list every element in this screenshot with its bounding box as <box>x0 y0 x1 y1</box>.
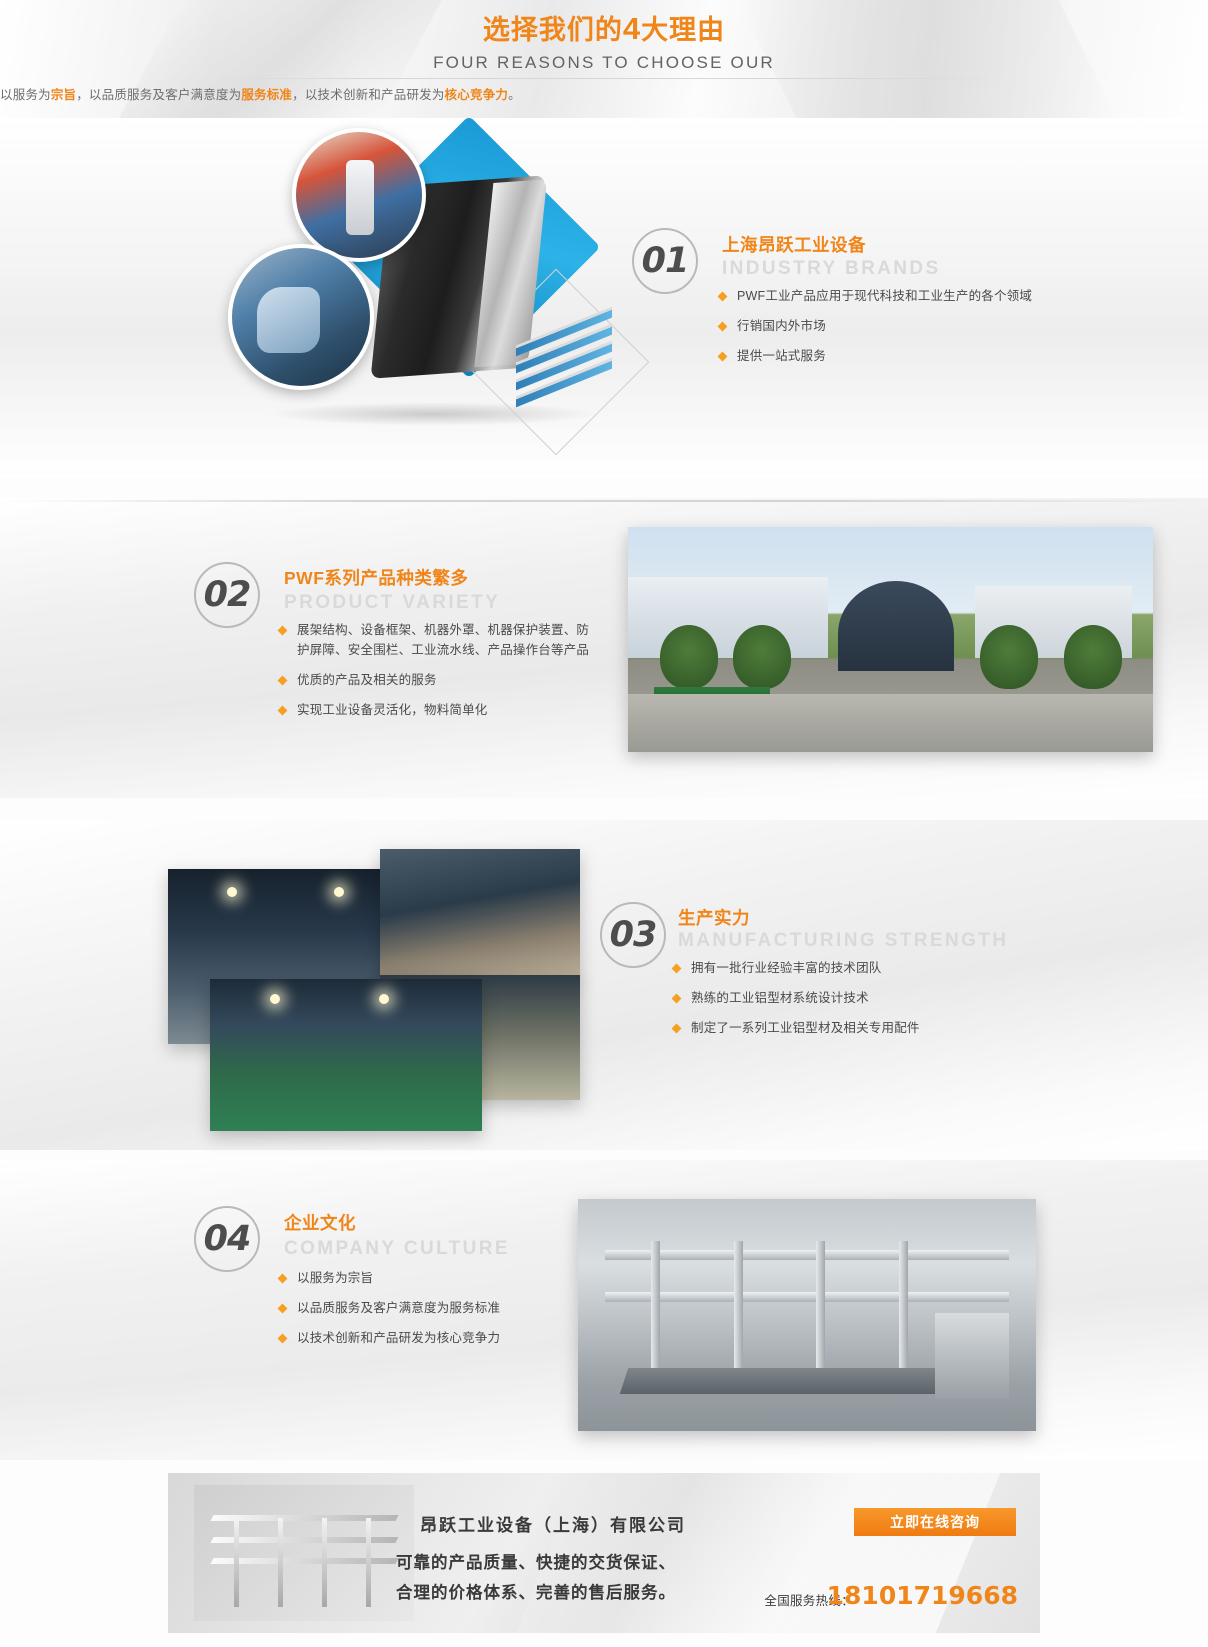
section-02-top-divider <box>0 500 1208 502</box>
list-item: 展架结构、设备框架、机器外罩、机器保护装置、防护屏障、安全围栏、工业流水线、产品… <box>278 620 590 660</box>
workshop-photo-circle-2 <box>228 244 374 390</box>
trolley-cart <box>935 1313 1009 1399</box>
welding-photo <box>380 849 580 981</box>
list-item: 以技术创新和产品研发为核心竞争力 <box>278 1328 608 1348</box>
post-4 <box>899 1241 908 1389</box>
footer-banner: 昂跃工业设备（上海）有限公司 可靠的产品质量、快捷的交货保证、 合理的价格体系、… <box>168 1473 1040 1633</box>
conveyor-belt <box>620 1368 967 1394</box>
list-item: 优质的产品及相关的服务 <box>278 670 590 690</box>
page-title-suffix: 大理由 <box>641 15 725 45</box>
road-foreground <box>628 694 1153 753</box>
list-item: 以服务为宗旨 <box>278 1268 608 1288</box>
section-01-image-collage <box>228 128 628 458</box>
section-01-title-en: INDUSTRY BRANDS <box>722 258 941 280</box>
gate-arch <box>838 581 954 671</box>
section-01-title-cn: 上海昂跃工业设备 <box>722 232 866 257</box>
workshop-photo-circle-1 <box>292 128 426 262</box>
footer-slogan-line-2: 合理的价格体系、完善的售后服务。 <box>396 1579 676 1603</box>
section-04-number-badge: 04 <box>194 1206 260 1272</box>
footer-blueprint-art <box>194 1485 414 1621</box>
tree-4 <box>1064 625 1122 689</box>
section-03-number: 03 <box>610 918 657 953</box>
page-title: 选择我们的4大理由 <box>0 12 1208 47</box>
list-item: 实现工业设备灵活化，物料简单化 <box>278 700 590 720</box>
hotline-number: 18101719668 <box>827 1581 1018 1610</box>
section-02-bullet-list: 展架结构、设备框架、机器外罩、机器保护装置、防护屏障、安全围栏、工业流水线、产品… <box>278 620 590 730</box>
tree-2 <box>733 625 791 689</box>
list-item: 拥有一批行业经验丰富的技术团队 <box>672 958 1002 978</box>
assembly-floor-photo <box>210 979 482 1131</box>
section-03-number-badge: 03 <box>600 902 666 968</box>
list-item: 行销国内外市场 <box>718 316 1048 336</box>
section-04-bullet-list: 以服务为宗旨 以品质服务及客户满意度为服务标准 以技术创新和产品研发为核心竞争力 <box>278 1268 608 1358</box>
post-3 <box>816 1241 825 1389</box>
rail-top <box>605 1250 1008 1260</box>
post-1 <box>651 1241 660 1389</box>
list-item: PWF工业产品应用于现代科技和工业生产的各个领域 <box>718 286 1048 306</box>
tree-1 <box>660 625 718 689</box>
section-04-number: 04 <box>204 1222 251 1257</box>
section-02-title-en: PRODUCT VARIETY <box>284 592 500 614</box>
list-item: 提供一站式服务 <box>718 346 1048 366</box>
footer-slogan-line-1: 可靠的产品质量、快捷的交货保证、 <box>396 1549 676 1573</box>
section-01-number-badge: 01 <box>632 228 698 294</box>
building-left <box>628 577 828 658</box>
page-title-prefix: 选择我们的 <box>483 15 623 45</box>
section-02-number-badge: 02 <box>194 562 260 628</box>
production-line-photo <box>578 1199 1036 1431</box>
page-title-number: 4 <box>623 11 641 46</box>
page-root: 选择我们的4大理由 FOUR REASONS TO CHOOSE OUR 以服务… <box>0 0 1208 1647</box>
section-01-number: 01 <box>642 244 689 279</box>
page-subtitle: FOUR REASONS TO CHOOSE OUR <box>0 53 1208 73</box>
factory-gate-photo <box>628 527 1153 752</box>
section-03-title-en: MANUFACTURING STRENGTH <box>678 930 1008 952</box>
list-item: 制定了一系列工业铝型材及相关专用配件 <box>672 1018 1002 1038</box>
post-2 <box>734 1241 743 1389</box>
tree-3 <box>980 625 1038 689</box>
section-03-title-cn: 生产实力 <box>678 905 750 930</box>
section-02-number: 02 <box>204 578 251 613</box>
page-header: 选择我们的4大理由 FOUR REASONS TO CHOOSE OUR <box>0 0 1208 122</box>
footer-company-name: 昂跃工业设备（上海）有限公司 <box>420 1511 686 1536</box>
list-item: 熟练的工业铝型材系统设计技术 <box>672 988 1002 1008</box>
section-02-title-cn: PWF系列产品种类繁多 <box>284 565 468 590</box>
section-03-bullet-list: 拥有一批行业经验丰富的技术团队 熟练的工业铝型材系统设计技术 制定了一系列工业铝… <box>672 958 1002 1048</box>
list-item: 以品质服务及客户满意度为服务标准 <box>278 1298 608 1318</box>
section-01-bullet-list: PWF工业产品应用于现代科技和工业生产的各个领域 行销国内外市场 提供一站式服务 <box>718 286 1048 376</box>
rail-middle <box>605 1292 1008 1302</box>
section-04-title-cn: 企业文化 <box>284 1210 356 1235</box>
section-04-title-en: COMPANY CULTURE <box>284 1238 510 1260</box>
online-consult-button[interactable]: 立即在线咨询 <box>854 1508 1016 1536</box>
